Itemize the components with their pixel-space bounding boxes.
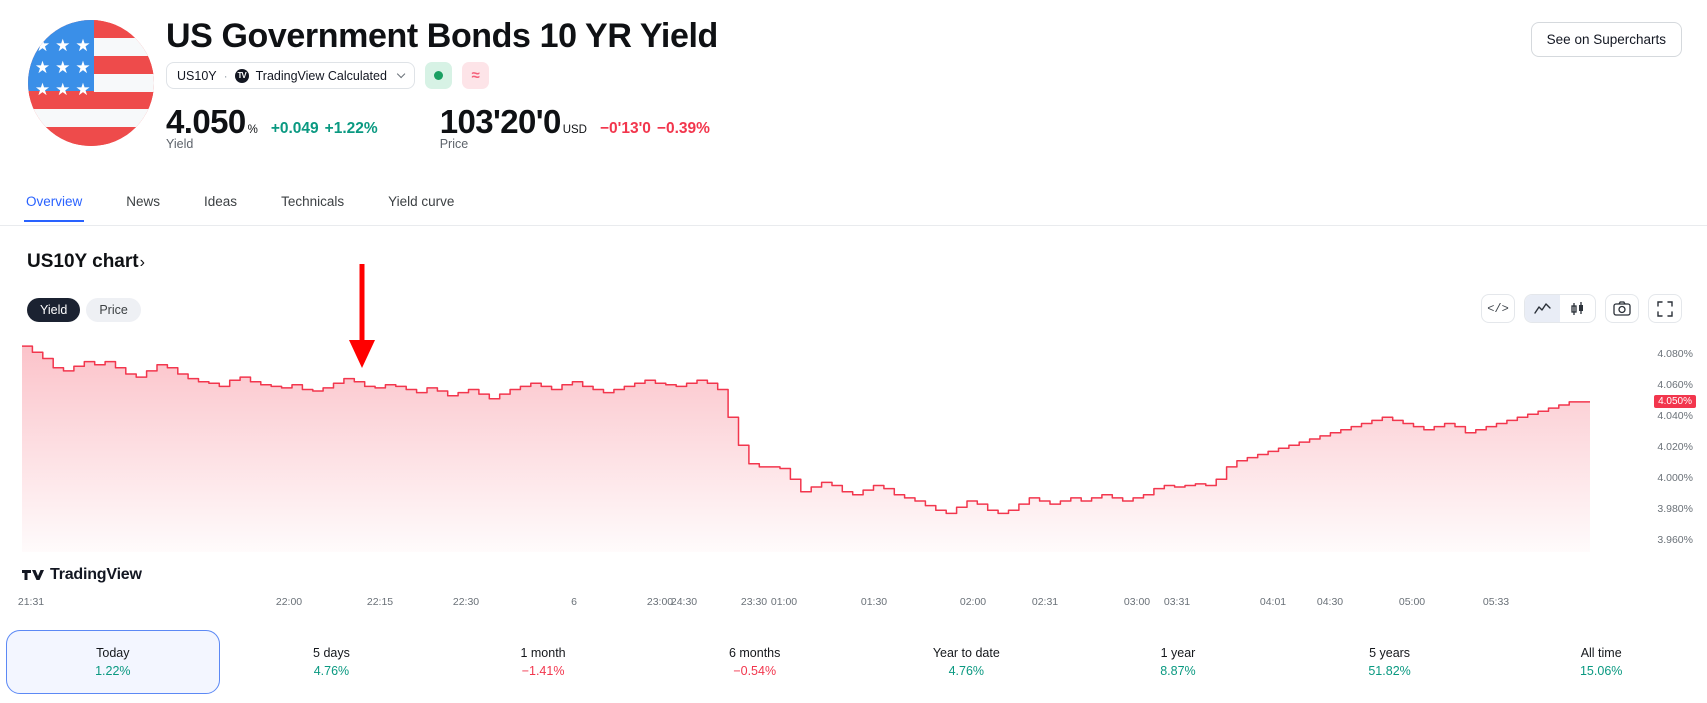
- x-axis-tick-label: 03:00: [1124, 596, 1150, 608]
- period-1-month[interactable]: 1 month−1.41%: [437, 630, 649, 694]
- approximately-equal-icon[interactable]: ≈: [462, 62, 489, 89]
- chart-x-axis: 21:3122:0022:1522:3023:0023:30624:3001:0…: [0, 596, 1707, 614]
- period-change-value: 4.76%: [314, 664, 349, 678]
- x-axis-tick-label: 05:33: [1483, 596, 1509, 608]
- x-axis-tick-label: 6: [571, 596, 577, 608]
- tab-yield-curve[interactable]: Yield curve: [388, 188, 454, 222]
- chart-mode-price[interactable]: Price: [86, 298, 140, 322]
- period-label: Year to date: [933, 646, 1000, 660]
- us-flag-icon: ★★★ ★★★ ★★★: [28, 20, 154, 146]
- y-axis-tick-label: 3.980%: [1657, 503, 1693, 515]
- chart-heading-label: US10Y chart: [27, 251, 139, 272]
- green-dot-market-open-icon[interactable]: [425, 62, 452, 89]
- x-axis-tick-label: 01:30: [861, 596, 887, 608]
- tradingview-logo-icon: [22, 568, 44, 582]
- x-axis-tick-label: 22:15: [367, 596, 393, 608]
- x-axis-tick-label: 02:00: [960, 596, 986, 608]
- symbol-separator: ·: [224, 69, 228, 83]
- period-5-days[interactable]: 5 days4.76%: [226, 630, 438, 694]
- period-year-to-date[interactable]: Year to date4.76%: [861, 630, 1073, 694]
- tabs-divider: [0, 225, 1707, 226]
- quote-price: 103'20'0 USD −0'13'0 −0.39% Price: [440, 103, 710, 141]
- price-change-abs: −0'13'0: [600, 120, 651, 138]
- yield-value: 4.050: [166, 103, 246, 141]
- fullscreen-icon[interactable]: [1648, 294, 1682, 323]
- page-title: US Government Bonds 10 YR Yield: [166, 17, 718, 56]
- x-axis-tick-label: 01:00: [771, 596, 797, 608]
- price-label: Price: [440, 137, 468, 151]
- period-label: 1 year: [1161, 646, 1196, 660]
- chevron-right-icon: ›: [140, 254, 145, 271]
- period-label: Today: [96, 646, 129, 660]
- period-label: 6 months: [729, 646, 780, 660]
- period-1-year[interactable]: 1 year8.87%: [1072, 630, 1284, 694]
- section-tabs: OverviewNewsIdeasTechnicalsYield curve: [26, 188, 498, 222]
- y-axis-tick-label: 4.080%: [1657, 348, 1693, 360]
- chevron-down-icon: [397, 70, 406, 79]
- yield-unit: %: [248, 124, 258, 136]
- period-change-value: 1.22%: [95, 664, 130, 678]
- period-label: All time: [1581, 646, 1622, 660]
- period-today[interactable]: Today1.22%: [6, 630, 220, 694]
- chart-mode-yield[interactable]: Yield: [27, 298, 80, 322]
- tab-news[interactable]: News: [126, 188, 160, 222]
- period-change-value: 4.76%: [949, 664, 984, 678]
- yield-change-abs: +0.049: [271, 120, 319, 138]
- x-axis-tick-label: 23:00: [647, 596, 673, 608]
- tradingview-watermark: TradingView: [22, 566, 142, 584]
- x-axis-tick-label: 22:30: [453, 596, 479, 608]
- camera-snapshot-icon[interactable]: [1605, 294, 1639, 323]
- quote-yield: 4.050 % +0.049 +1.22% Yield: [166, 103, 378, 141]
- yield-change-pct: +1.22%: [325, 120, 378, 138]
- symbol-source-dropdown[interactable]: US10Y · TV TradingView Calculated: [166, 62, 415, 89]
- period-6-months[interactable]: 6 months−0.54%: [649, 630, 861, 694]
- y-axis-tick-label: 4.060%: [1657, 379, 1693, 391]
- period-label: 5 years: [1369, 646, 1410, 660]
- page-header: ★★★ ★★★ ★★★ US Government Bonds 10 YR Yi…: [0, 0, 1707, 200]
- chart-toolbar: </>: [1481, 294, 1682, 323]
- tab-technicals[interactable]: Technicals: [281, 188, 344, 222]
- candlestick-chart-icon[interactable]: [1560, 295, 1595, 322]
- y-axis-tick-label: 4.000%: [1657, 472, 1693, 484]
- embed-code-icon[interactable]: </>: [1481, 294, 1515, 323]
- tab-ideas[interactable]: Ideas: [204, 188, 237, 222]
- y-axis-current-price-label: 4.050%: [1654, 395, 1696, 408]
- period-change-value: 51.82%: [1368, 664, 1410, 678]
- x-axis-tick-label: 04:01: [1260, 596, 1286, 608]
- quote-row: 4.050 % +0.049 +1.22% Yield 103'20'0 USD…: [166, 103, 710, 141]
- tab-overview[interactable]: Overview: [26, 188, 82, 222]
- chart-y-axis: 4.080%4.060%4.050%4.040%4.020%4.000%3.98…: [1631, 340, 1701, 552]
- x-axis-tick-label: 22:00: [276, 596, 302, 608]
- tradingview-watermark-label: TradingView: [50, 566, 142, 584]
- x-axis-tick-label: 21:31: [18, 596, 44, 608]
- x-axis-tick-label: 23:30: [741, 596, 767, 608]
- tradingview-logo-icon: TV: [235, 69, 249, 83]
- symbol-source-label: TradingView Calculated: [256, 69, 387, 83]
- period-performance-bar: Today1.22%5 days4.76%1 month−1.41%6 mont…: [0, 630, 1707, 694]
- period-label: 1 month: [520, 646, 565, 660]
- symbol-row: US10Y · TV TradingView Calculated ≈: [166, 62, 489, 89]
- yield-label: Yield: [166, 137, 193, 151]
- x-axis-tick-label: 02:31: [1032, 596, 1058, 608]
- y-axis-tick-label: 3.960%: [1657, 534, 1693, 546]
- period-change-value: 8.87%: [1160, 664, 1195, 678]
- price-unit: USD: [563, 124, 587, 136]
- period-change-value: −1.41%: [522, 664, 565, 678]
- x-axis-tick-label: 03:31: [1164, 596, 1190, 608]
- red-down-arrow-annotation: [345, 262, 379, 372]
- x-axis-tick-label: 24:30: [671, 596, 697, 608]
- area-chart-icon[interactable]: [1525, 295, 1560, 322]
- price-value: 103'20'0: [440, 103, 561, 141]
- see-on-supercharts-button[interactable]: See on Supercharts: [1531, 22, 1682, 57]
- y-axis-tick-label: 4.020%: [1657, 441, 1693, 453]
- period-all-time[interactable]: All time15.06%: [1495, 630, 1707, 694]
- y-axis-tick-label: 4.040%: [1657, 410, 1693, 422]
- period-change-value: −0.54%: [733, 664, 776, 678]
- chart-type-switch: [1524, 294, 1596, 323]
- price-change-pct: −0.39%: [657, 120, 710, 138]
- chart-heading[interactable]: US10Y chart›: [27, 251, 145, 273]
- x-axis-tick-label: 05:00: [1399, 596, 1425, 608]
- x-axis-tick-label: 04:30: [1317, 596, 1343, 608]
- yield-price-toggle: YieldPrice: [27, 298, 141, 322]
- chart-area-fill: [22, 346, 1590, 552]
- symbol-ticker: US10Y: [177, 69, 217, 83]
- period-5-years[interactable]: 5 years51.82%: [1284, 630, 1496, 694]
- period-label: 5 days: [313, 646, 350, 660]
- price-chart[interactable]: [0, 340, 1707, 552]
- period-change-value: 15.06%: [1580, 664, 1622, 678]
